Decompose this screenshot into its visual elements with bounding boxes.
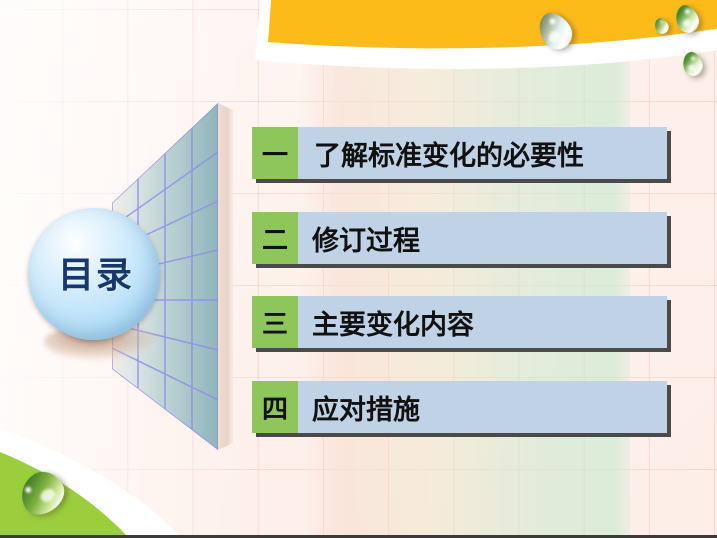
agenda-label-1: 了解标准变化的必要性: [298, 127, 667, 179]
agenda-label-4: 应对措施: [298, 381, 667, 433]
agenda-title-sphere: 目录: [28, 208, 160, 340]
agenda-title-label: 目录: [58, 246, 134, 298]
agenda-number-1: 一: [252, 127, 298, 179]
agenda-number-4: 四: [252, 381, 298, 433]
agenda-item-3[interactable]: 三 主要变化内容: [252, 296, 667, 348]
agenda-item-2[interactable]: 二 修订过程: [252, 212, 667, 264]
agenda-label-3: 主要变化内容: [298, 296, 667, 348]
presentation-slide: 目录 一 了解标准变化的必要性 二 修订过程 三 主要变化内容 四 应对措施: [0, 0, 717, 538]
wall-edge-strip: [218, 103, 233, 450]
agenda-item-4[interactable]: 四 应对措施: [252, 381, 667, 433]
agenda-label-2: 修订过程: [298, 212, 667, 264]
agenda-number-2: 二: [252, 212, 298, 264]
agenda-number-3: 三: [252, 296, 298, 348]
agenda-item-1[interactable]: 一 了解标准变化的必要性: [252, 127, 667, 179]
